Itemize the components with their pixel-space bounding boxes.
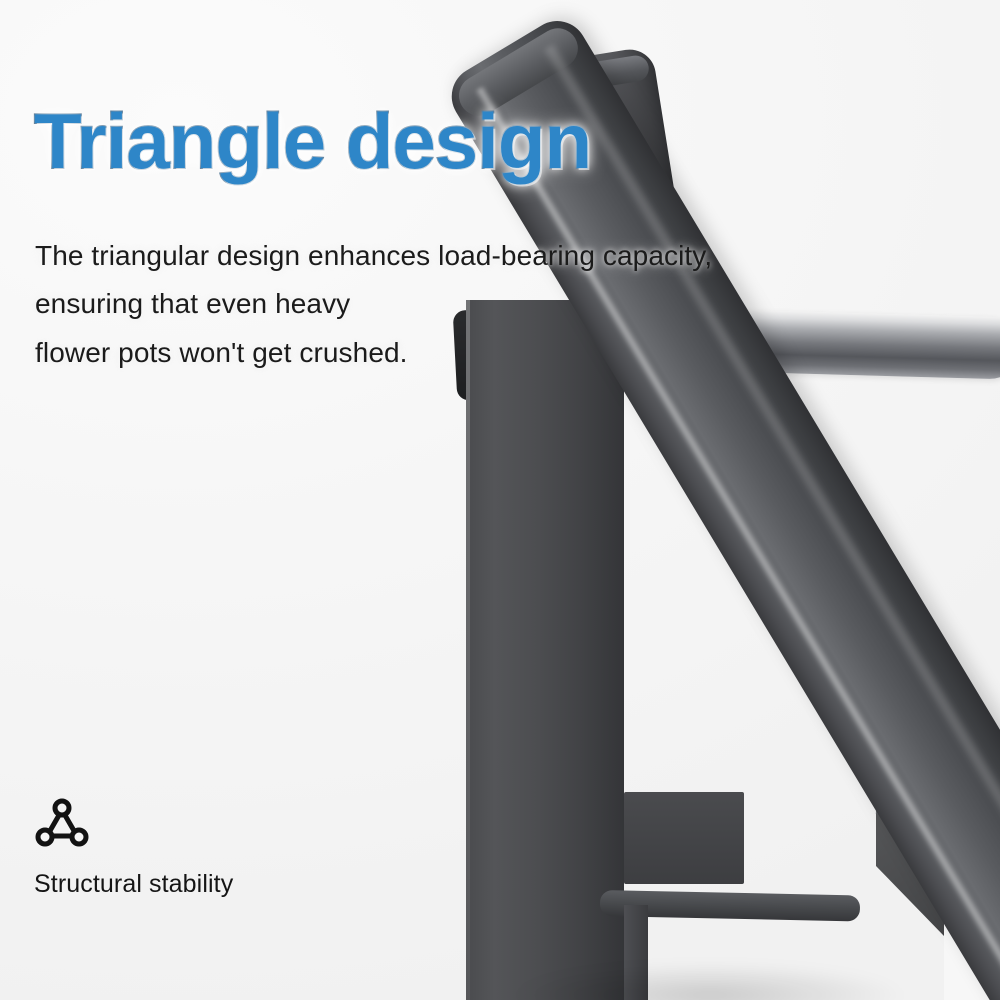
- description-text: The triangular design enhances load-bear…: [35, 232, 712, 377]
- description-line-2: ensuring that even heavy: [35, 280, 712, 328]
- description-line-1: The triangular design enhances load-bear…: [35, 232, 712, 280]
- feature-badge: Structural stability: [34, 798, 233, 899]
- feature-label: Structural stability: [34, 870, 233, 899]
- product-feature-panel: Triangle design The triangular design en…: [0, 0, 1000, 1000]
- description-line-3: flower pots won't get crushed.: [35, 329, 712, 377]
- page-title: Triangle design: [34, 102, 591, 180]
- triangle-nodes-icon: [34, 798, 233, 848]
- content-layer: Triangle design The triangular design en…: [0, 0, 1000, 1000]
